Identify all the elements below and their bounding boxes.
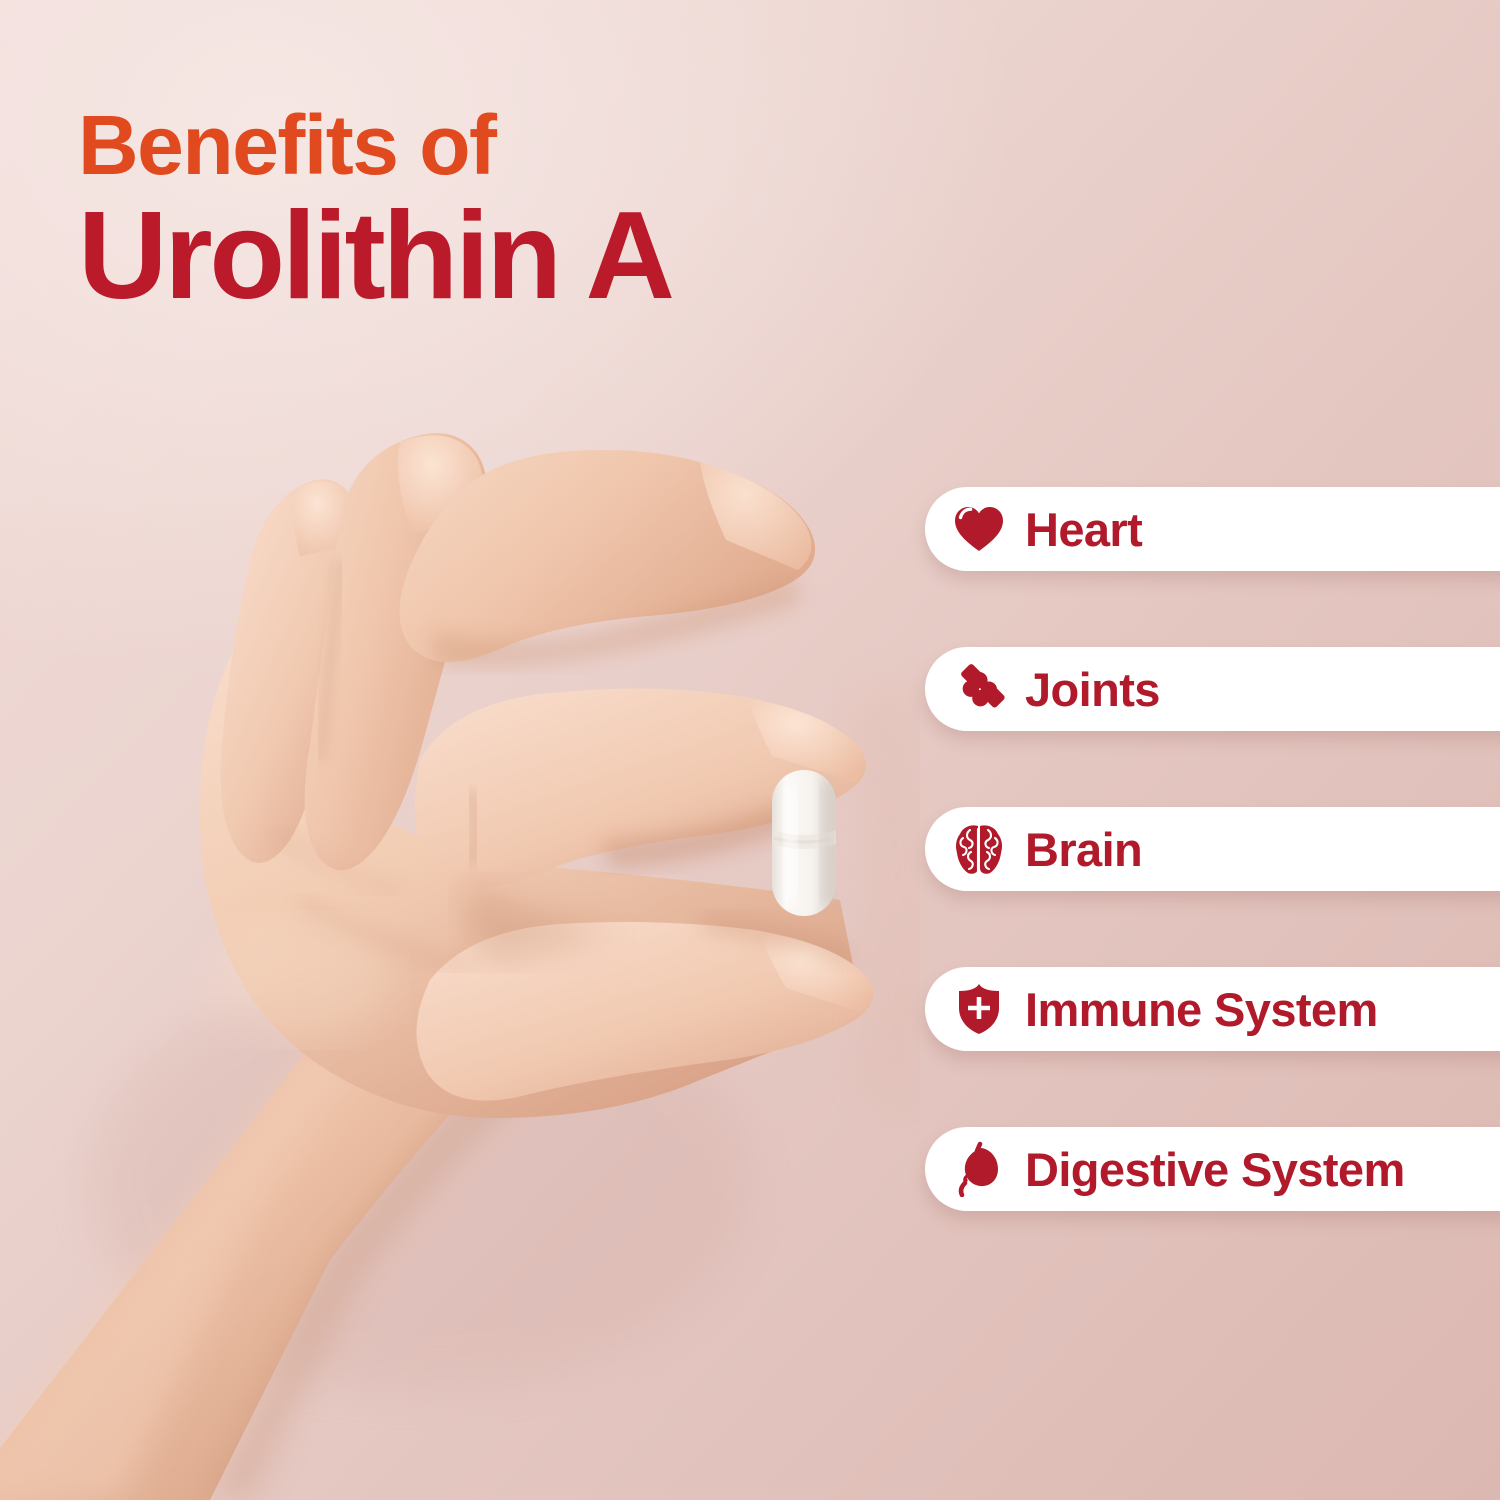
joint-bone-icon [951, 661, 1007, 717]
benefit-label: Digestive System [1025, 1142, 1405, 1197]
benefit-card-heart[interactable]: Heart [925, 487, 1500, 571]
benefit-card-joints[interactable]: Joints [925, 647, 1500, 731]
benefit-label: Immune System [1025, 982, 1378, 1037]
promo-banner: Benefits of Urolithin A [0, 0, 1500, 1500]
shield-plus-icon [951, 981, 1007, 1037]
benefit-label: Joints [1025, 662, 1160, 717]
benefit-card-digestive-system[interactable]: Digestive System [925, 1127, 1500, 1211]
benefit-label: Heart [1025, 502, 1142, 557]
capsule-pill [772, 770, 836, 916]
stomach-icon [951, 1141, 1007, 1197]
brain-icon [951, 821, 1007, 877]
benefit-card-brain[interactable]: Brain [925, 807, 1500, 891]
benefits-list: Heart [925, 487, 1500, 1211]
heart-icon [951, 501, 1007, 557]
hand-holding-capsule-photo [0, 0, 920, 1500]
benefit-card-immune-system[interactable]: Immune System [925, 967, 1500, 1051]
benefit-label: Brain [1025, 822, 1142, 877]
